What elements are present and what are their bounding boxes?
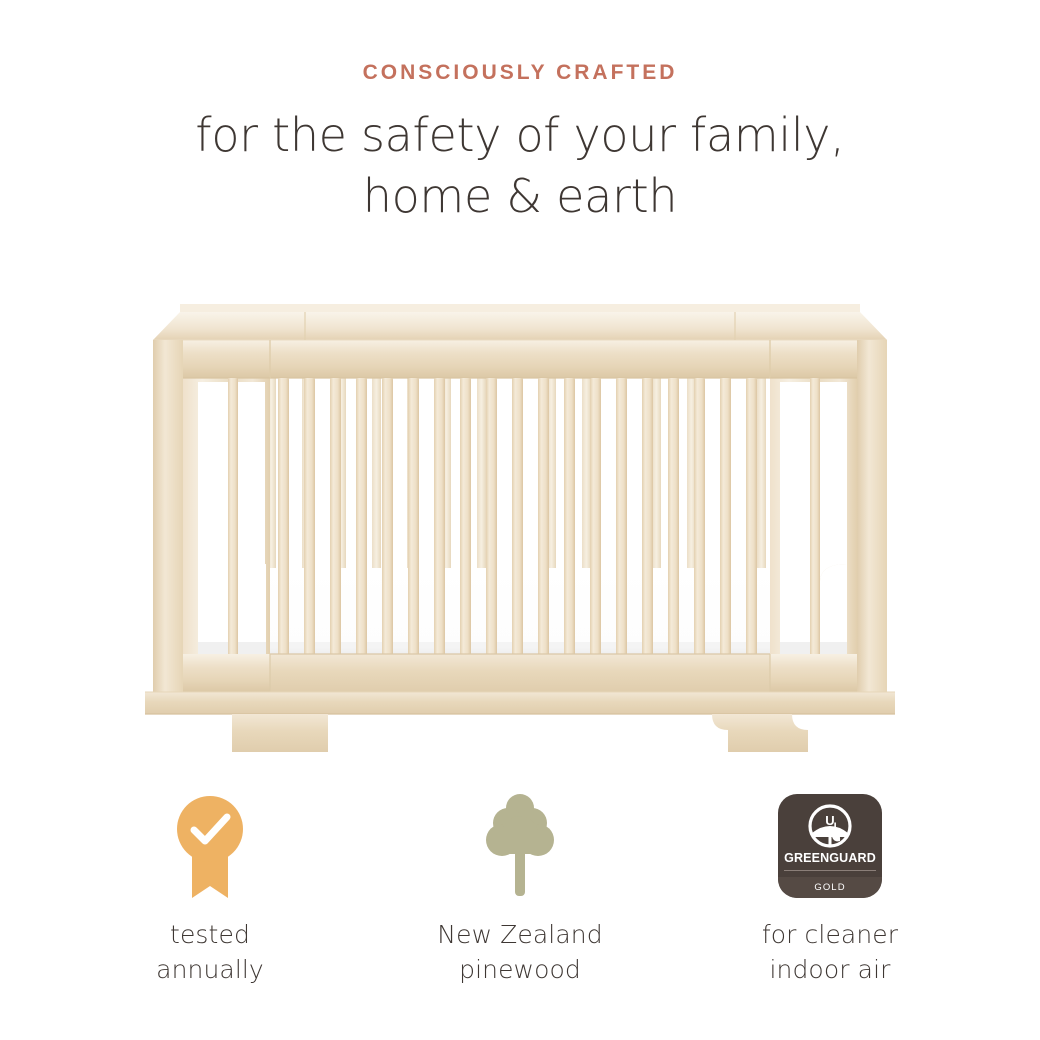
feature-label-line-1: for cleaner: [762, 918, 898, 953]
page-title: for the safety of your family, home & ea…: [0, 105, 1040, 226]
svg-text:L: L: [834, 821, 841, 833]
badge-divider: [784, 870, 876, 871]
feature-label: for cleaner indoor air: [762, 918, 898, 987]
crib-illustration: [120, 282, 920, 752]
feature-label-line-1: New Zealand: [437, 918, 602, 953]
feature-label-line-2: annually: [156, 953, 264, 988]
badge-tier-label: GOLD: [814, 883, 845, 893]
greenguard-wordmark: GREENGUARD: [784, 852, 876, 865]
ul-mark-icon: U L: [807, 803, 853, 849]
header: CONSCIOUSLY CRAFTED for the safety of yo…: [0, 0, 1040, 226]
badge-tier-bar: GOLD: [778, 877, 882, 898]
crib-lower-rail: [270, 654, 770, 692]
eyebrow-text: CONSCIOUSLY CRAFTED: [0, 62, 1040, 83]
feature-icon-wrap: [170, 792, 250, 900]
features-row: tested annually: [0, 792, 1040, 987]
feature-tested-annually: tested annually: [55, 792, 365, 987]
feature-label: New Zealand pinewood: [437, 918, 602, 987]
feature-icon-wrap: U L GREENGUARD GOLD: [778, 792, 882, 900]
crib-base-and-feet: [145, 692, 895, 752]
feature-icon-wrap: [480, 792, 560, 900]
tree-icon: [480, 794, 560, 898]
promo-page: CONSCIOUSLY CRAFTED for the safety of yo…: [0, 0, 1040, 1040]
feature-cleaner-indoor-air: U L GREENGUARD GOLD for cleaner: [675, 792, 985, 987]
feature-label-line-2: indoor air: [762, 953, 898, 988]
award-ribbon-icon: [170, 794, 250, 898]
feature-label: tested annually: [156, 918, 264, 987]
headline-line-2: home & earth: [0, 166, 1040, 227]
headline-line-1: for the safety of your family,: [0, 105, 1040, 166]
product-image: [0, 282, 1040, 752]
feature-label-line-2: pinewood: [437, 953, 602, 988]
feature-label-line-1: tested: [156, 918, 264, 953]
greenguard-gold-badge-icon: U L GREENGUARD GOLD: [778, 794, 882, 898]
feature-new-zealand-pinewood: New Zealand pinewood: [365, 792, 675, 987]
